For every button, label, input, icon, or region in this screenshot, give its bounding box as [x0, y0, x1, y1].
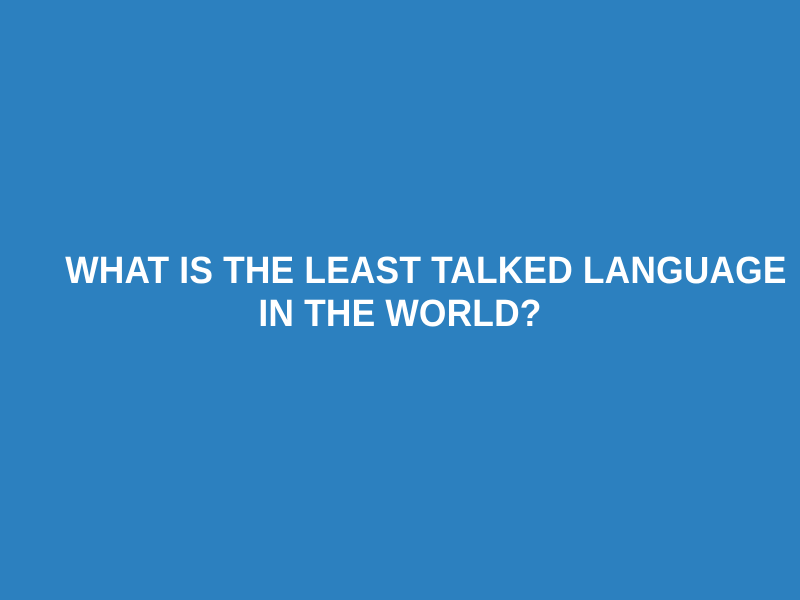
page-title: WHAT IS THE LEAST TALKED LANGUAGE IN THE… [65, 250, 735, 336]
featured-image-banner: WHAT IS THE LEAST TALKED LANGUAGE IN THE… [0, 0, 800, 600]
headline-line-2: IN THE WORLD? [65, 293, 735, 336]
headline-block: WHAT IS THE LEAST TALKED LANGUAGE IN THE… [0, 250, 800, 336]
headline-line-1: WHAT IS THE LEAST TALKED LANGUAGE [65, 250, 735, 293]
